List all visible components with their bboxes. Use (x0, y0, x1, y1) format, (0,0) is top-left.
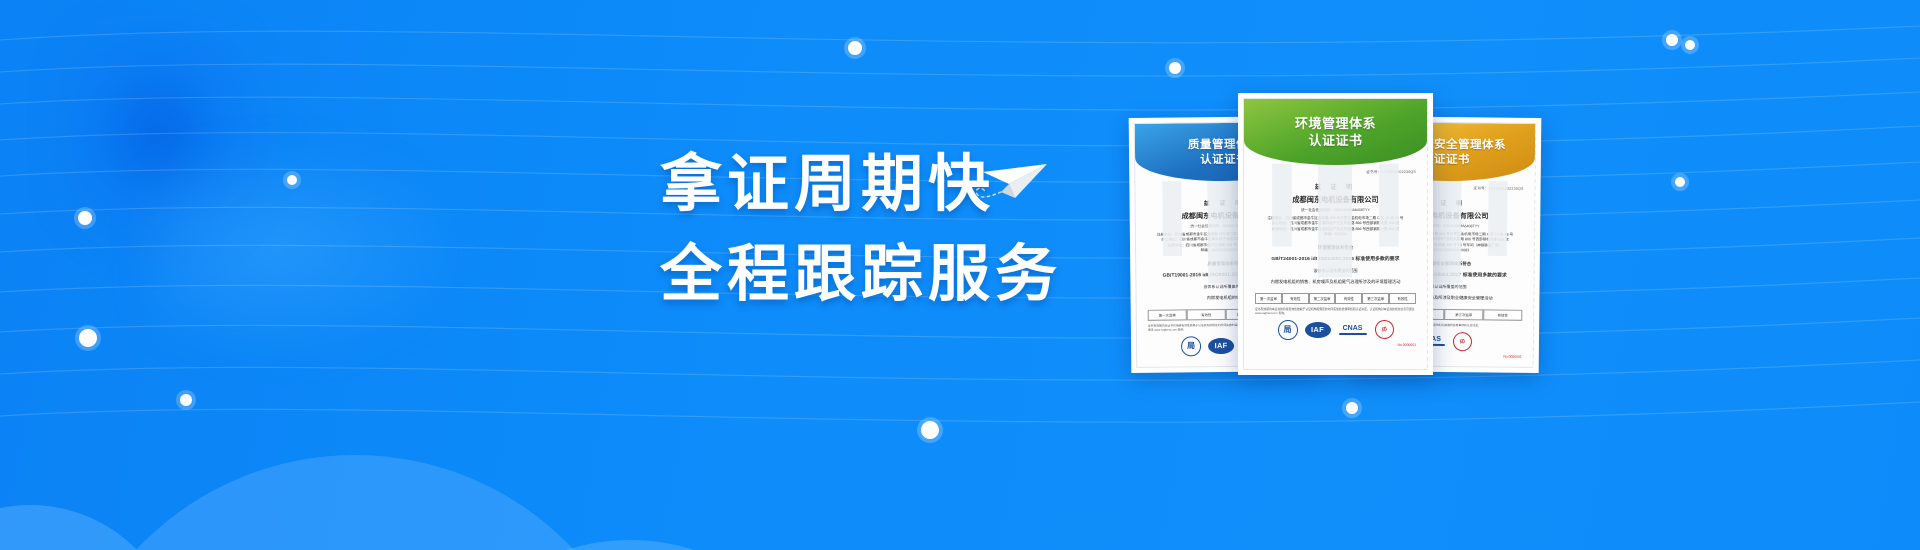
decor-dot (78, 211, 92, 225)
certificate-fine-print: 证书有效期内本证书的持续有效性依赖于认证机构按规定的时间实施的监督审核和认证决定… (1255, 307, 1416, 315)
certificate-scope-label: 该体系认证所覆盖的范围 (1255, 268, 1416, 274)
decor-dot (921, 421, 939, 439)
certificate-environment: 环境管理体系 认证证书 证书号：17419E2002230QS 兹 证 明 成都… (1238, 93, 1433, 375)
credit-code-value: 91510106MA6408TYY (1333, 208, 1369, 212)
certificate-standard: GB/T24001-2016 idt ISO14001:2015 标准使用多款的… (1255, 255, 1416, 262)
cnca-logo: 局 (1181, 336, 1201, 356)
audit-cell: 第二次监审 (1309, 293, 1336, 304)
certificate-serial: No.0000001 (1255, 343, 1416, 347)
decor-dot (1666, 34, 1678, 46)
certificate-no-value: 17419E2002230QS (1381, 170, 1416, 174)
audit-cell: 有效性 (1483, 309, 1522, 320)
certificate-postcode: 邮编：610031 (1255, 232, 1416, 237)
red-seal-icon: 印 (1451, 330, 1474, 353)
certificate-section-title: 兹 证 明 (1255, 182, 1416, 191)
certificate-header-band: 环境管理体系 认证证书 (1244, 99, 1427, 165)
decor-dot (79, 329, 97, 347)
headline-line-2: 全程跟踪服务 (660, 230, 1062, 320)
certificate-no-label: 证书号： (1366, 170, 1381, 174)
certificate-audit-table: 第一次监审 有效性 第二次监审 有效性 第三次监审 有效性 (1255, 293, 1416, 304)
paper-plane-icon (975, 150, 1055, 210)
decor-dot (1685, 40, 1695, 50)
red-seal-icon: 印 (1372, 318, 1395, 341)
audit-cell: 第一次监审 (1148, 309, 1187, 320)
cnas-logo: CNAS (1338, 321, 1368, 338)
credit-code-label: 统一社会信用代码： (1301, 208, 1333, 212)
decor-dot (1346, 402, 1358, 414)
promo-banner: 拿证周期快 全程跟踪服务 质量管理体系 认证证书 证书号：17419C200 (0, 0, 1920, 550)
decor-dot (287, 175, 297, 185)
certificate-no-label: 证书号： (1473, 186, 1488, 190)
certificate-title-sub: 认证证书 (1308, 133, 1362, 149)
decor-dot (1169, 62, 1181, 74)
certificates-group: 质量管理体系 认证证书 证书号：17419C2002230QS 兹 证 明 成都… (1110, 85, 1710, 385)
credit-code-value: 91510106MA6408TYY (1443, 224, 1479, 228)
certificate-scope-text: 内燃发电机组的销售、机房噪声及机组尾气治理所涉及的环境管理活动 (1255, 279, 1416, 285)
iaf-logo: IAF (1208, 338, 1234, 354)
iaf-logo: IAF (1305, 322, 1331, 338)
audit-cell: 第一次监审 (1255, 293, 1282, 304)
audit-cell: 第三次监审 (1444, 309, 1483, 320)
certificate-accreditation-logos: 局 IAF CNAS 印 (1255, 320, 1416, 340)
audit-cell: 第三次监审 (1362, 293, 1389, 304)
certificate-system-label: 环境管理体系符合 (1255, 245, 1416, 251)
decor-dot (848, 41, 862, 55)
audit-cell: 有效性 (1187, 309, 1226, 320)
audit-cell: 有效性 (1335, 293, 1362, 304)
audit-cell: 有效性 (1389, 293, 1416, 304)
certificate-org-name: 成都闽东电机设备有限公司 (1255, 195, 1416, 205)
decor-dot (180, 394, 192, 406)
certificate-title-main: 环境管理体系 (1295, 116, 1376, 132)
cnca-logo: 局 (1278, 320, 1298, 340)
certificate-no-value: 17419O2002230QS (1489, 186, 1524, 190)
credit-code-label: 统一社会信用代码： (1190, 224, 1222, 228)
audit-cell: 有效性 (1282, 293, 1309, 304)
